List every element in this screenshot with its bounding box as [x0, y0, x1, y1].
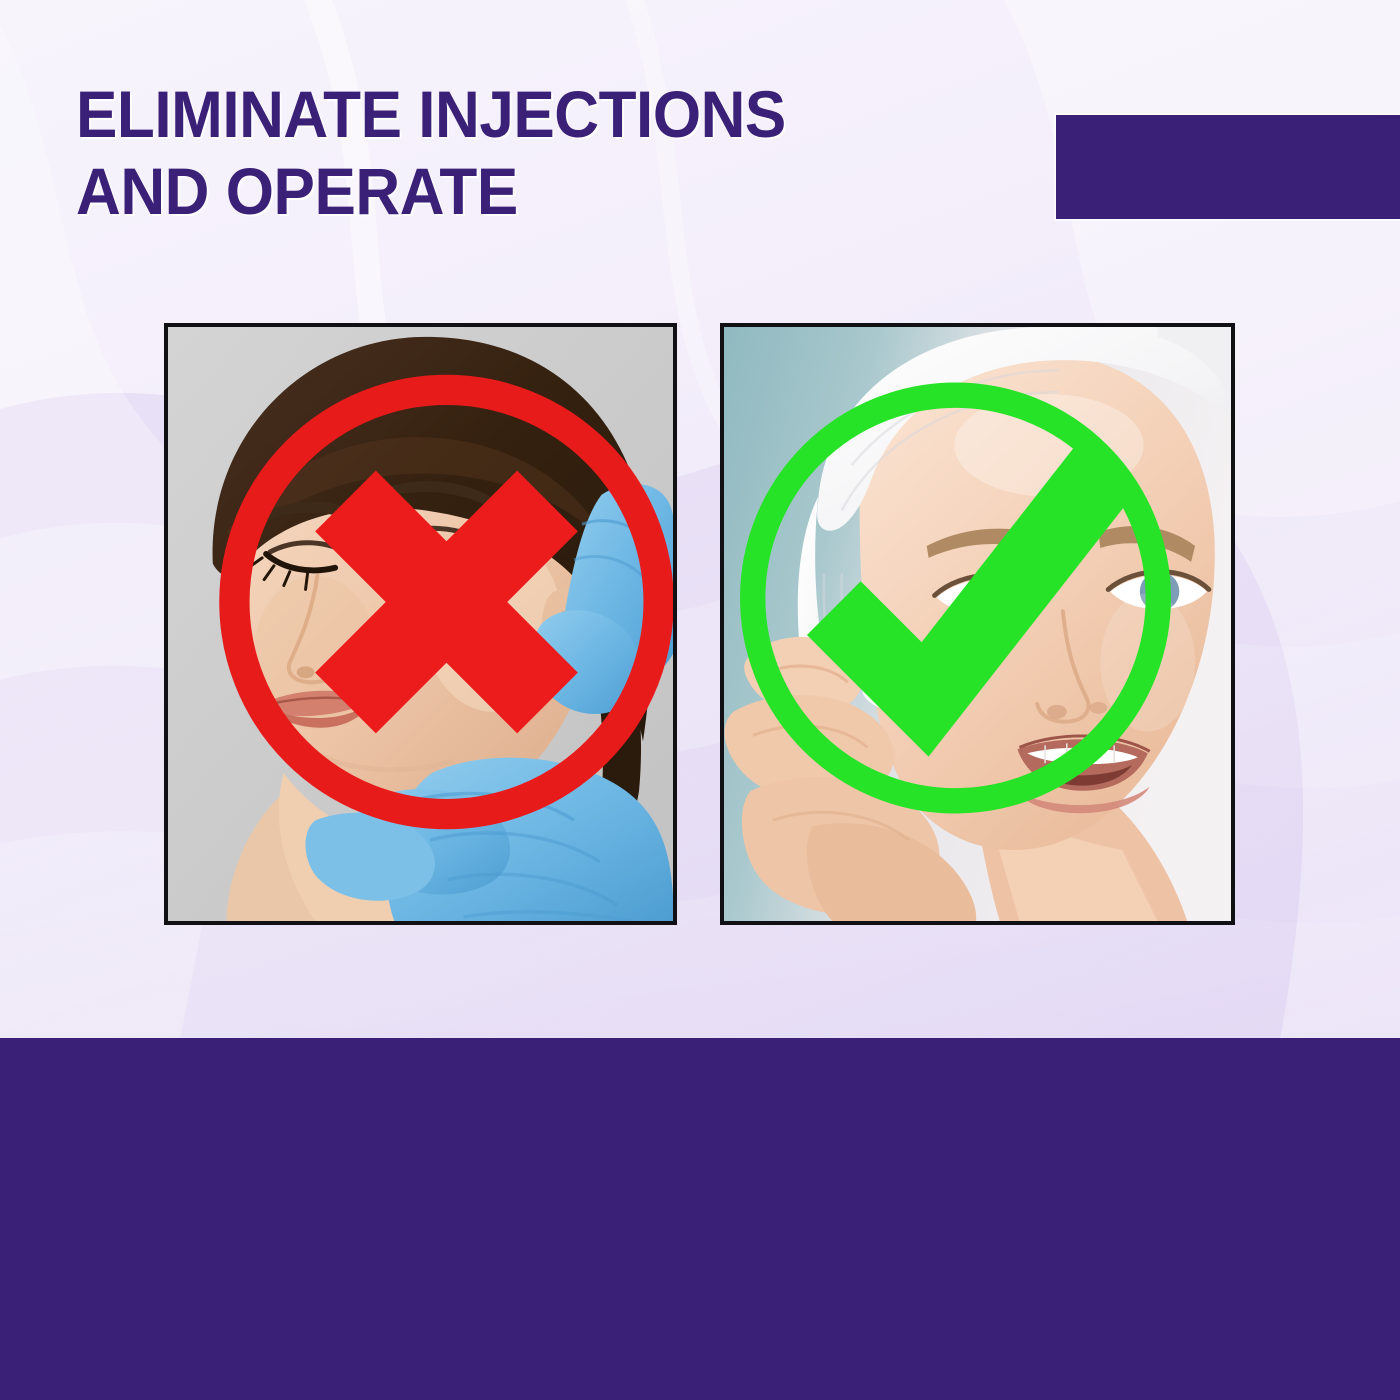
- feature-band: It can effectively enhance the firmness …: [0, 1038, 1400, 1400]
- page-title: ELIMINATE INJECTIONS AND OPERATE: [76, 76, 997, 229]
- comparison-photo-before: [164, 323, 677, 925]
- comparison-photo-after: [720, 323, 1235, 925]
- infographic-canvas: ELIMINATE INJECTIONS AND OPERATE: [0, 0, 1400, 1400]
- check-circle-icon: [720, 323, 1209, 895]
- cross-circle-icon: [194, 323, 677, 899]
- accent-bar: [1056, 115, 1400, 219]
